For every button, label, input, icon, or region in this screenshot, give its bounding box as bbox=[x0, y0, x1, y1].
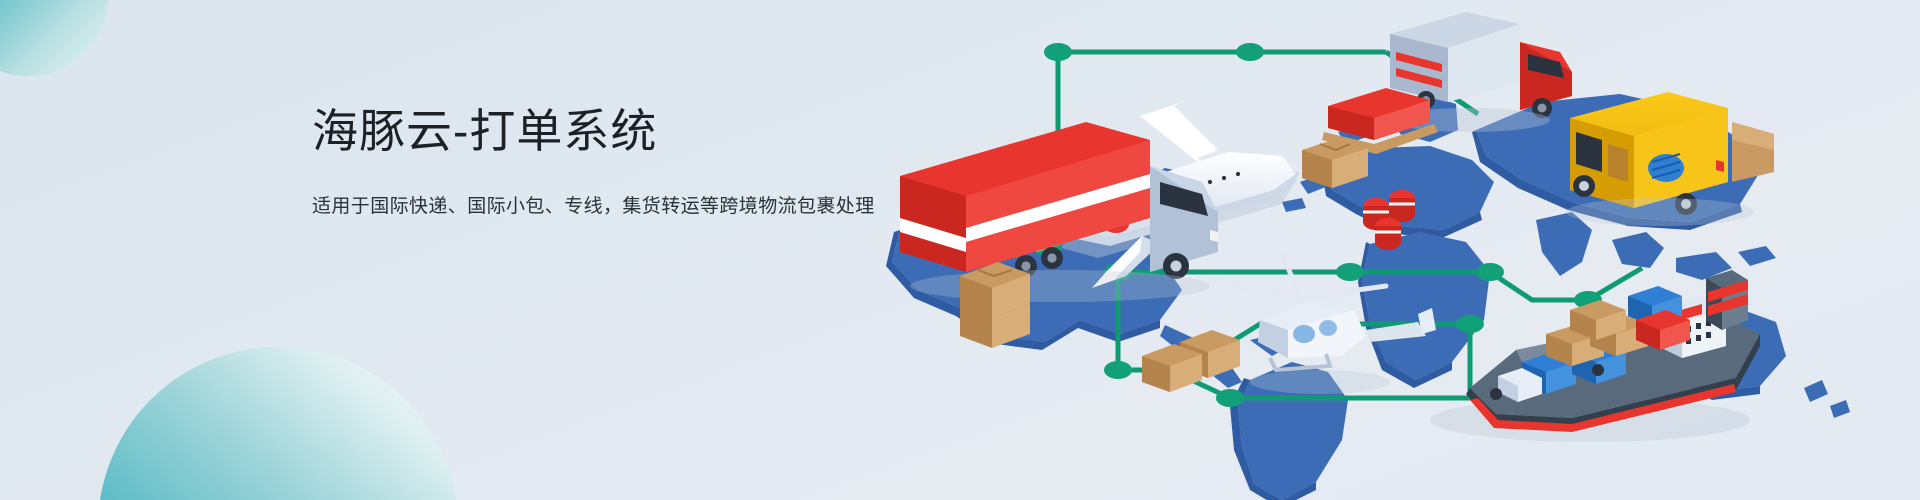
yellow-van-icon bbox=[1566, 92, 1774, 226]
isometric-global-logistics-map bbox=[830, 0, 1920, 500]
promo-banner: 海豚云-打单系统 适用于国际快递、国际小包、专线，集货转运等跨境物流包裹处理 bbox=[0, 0, 1920, 500]
teal-gradient-circle-small bbox=[0, 0, 108, 76]
teal-gradient-circle-large bbox=[98, 347, 458, 500]
cardboard-boxes-icon bbox=[960, 262, 1030, 348]
